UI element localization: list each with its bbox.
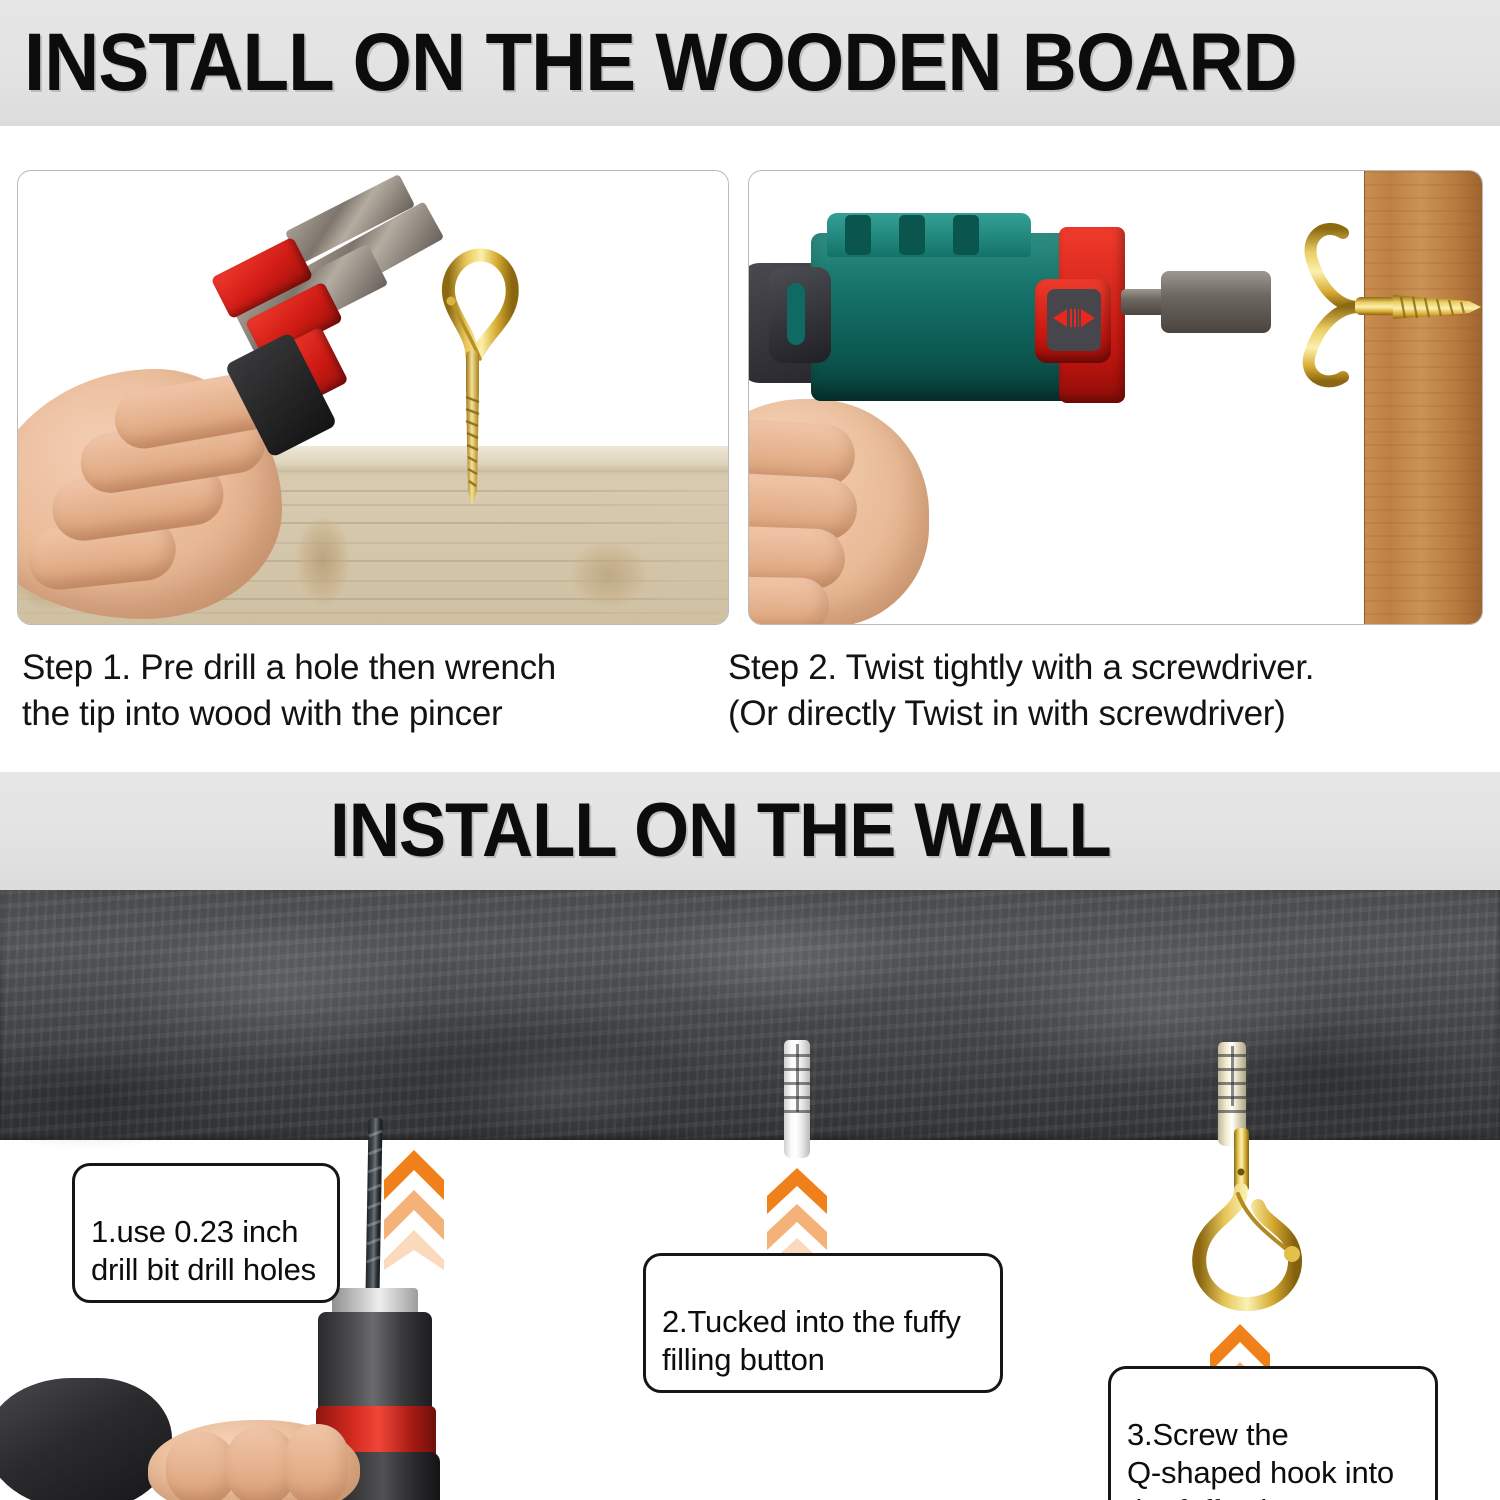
callout-screw-hook: 3.Screw the Q-shaped hook into the fuffy…: [1108, 1366, 1438, 1500]
chevron-up-icon-group-1: [382, 1148, 446, 1272]
step-1-photo-panel: [17, 170, 729, 625]
finger: [286, 1424, 348, 1500]
q-hook-icon: [416, 239, 528, 539]
banner-title-wall: INSTALL ON THE WALL: [330, 793, 1111, 869]
step-1-caption: Step 1. Pre drill a hole then wrench the…: [22, 645, 722, 737]
callout-anchor-insert: 2.Tucked into the fuffy filling button: [643, 1253, 1003, 1393]
section-banner-wall: INSTALL ON THE WALL: [0, 772, 1500, 890]
section-banner-wooden-board: INSTALL ON THE WOODEN BOARD: [0, 0, 1500, 126]
infographic-page: INSTALL ON THE WOODEN BOARD: [0, 0, 1500, 1500]
callout-3-text: 3.Screw the Q-shaped hook into the fuffy…: [1127, 1417, 1394, 1500]
drill-battery: [0, 1378, 172, 1500]
banner-title-wooden-board: INSTALL ON THE WOODEN BOARD: [24, 22, 1297, 104]
step-2-photo-panel: [748, 170, 1483, 625]
drill-chuck: [318, 1312, 432, 1418]
concrete-wall: [0, 890, 1500, 1140]
step-2-caption: Step 2. Twist tightly with a screwdriver…: [728, 645, 1488, 737]
drill-bit-icon: [365, 1118, 382, 1298]
q-hook-icon: [1255, 223, 1483, 393]
q-hook-icon: [1178, 1128, 1328, 1316]
callout-2-text: 2.Tucked into the fuffy filling button: [662, 1304, 961, 1377]
callout-drill-holes: 1.use 0.23 inch drill bit drill holes: [72, 1163, 340, 1303]
finger: [748, 576, 829, 625]
callout-1-text: 1.use 0.23 inch drill bit drill holes: [91, 1214, 316, 1287]
wall-anchor-icon: [784, 1040, 810, 1158]
